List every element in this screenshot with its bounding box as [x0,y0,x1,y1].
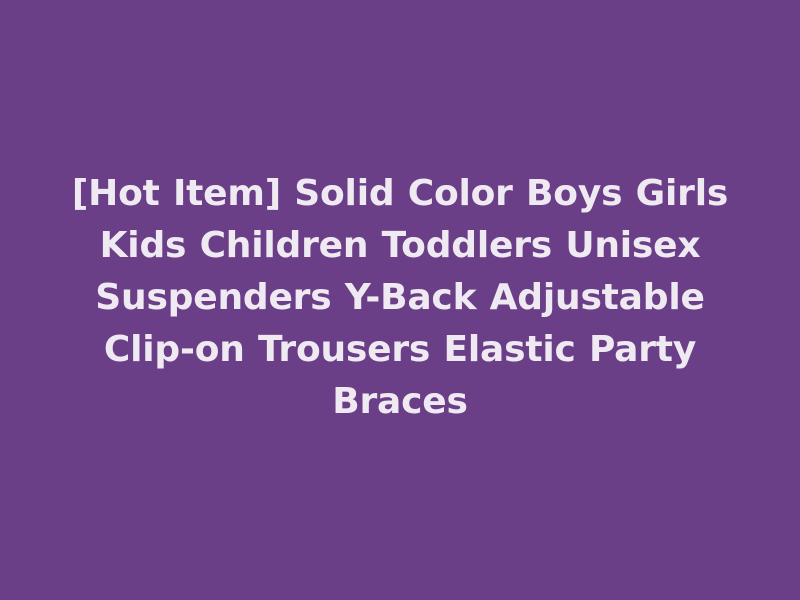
product-title: [Hot Item] Solid Color Boys Girls Kids C… [50,168,750,428]
product-title-card: [Hot Item] Solid Color Boys Girls Kids C… [0,0,800,600]
